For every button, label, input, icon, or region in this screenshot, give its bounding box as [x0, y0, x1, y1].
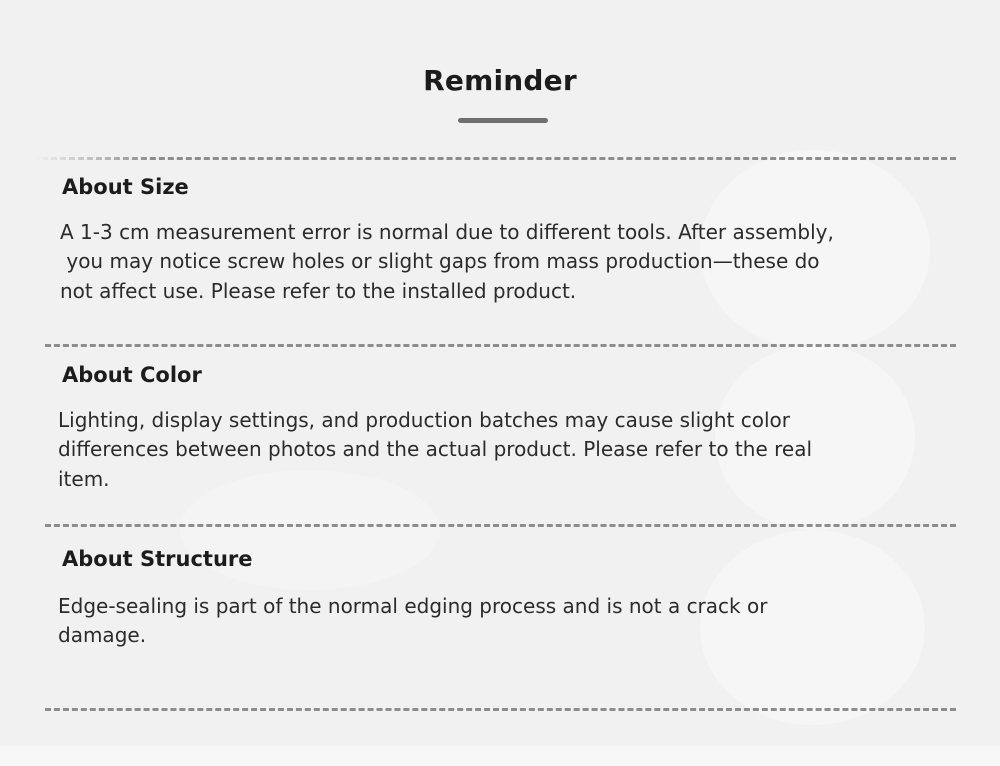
section-body-about-size: A 1-3 cm measurement error is normal due… — [60, 218, 960, 306]
section-divider-top — [6, 157, 956, 160]
section-divider-bottom — [45, 708, 956, 711]
section-divider-after-size — [45, 344, 956, 347]
section-about-structure: About Structure Edge-sealing is part of … — [0, 546, 1000, 651]
section-about-color: About Color Lighting, display settings, … — [0, 362, 1000, 494]
reminder-page: Reminder About Size A 1-3 cm measurement… — [0, 0, 1000, 766]
title-underline-bar — [458, 118, 548, 123]
bottom-band — [0, 746, 1000, 766]
section-about-size: About Size A 1-3 cm measurement error is… — [0, 174, 1000, 306]
section-heading-about-color: About Color — [62, 362, 1000, 388]
section-body-about-structure: Edge-sealing is part of the normal edgin… — [58, 592, 938, 650]
page-title: Reminder — [0, 64, 1000, 98]
section-heading-about-size: About Size — [62, 174, 1000, 200]
section-heading-about-structure: About Structure — [62, 546, 1000, 572]
section-divider-after-color — [45, 524, 956, 527]
page-header: Reminder — [0, 0, 1000, 150]
section-body-about-color: Lighting, display settings, and producti… — [58, 406, 948, 494]
